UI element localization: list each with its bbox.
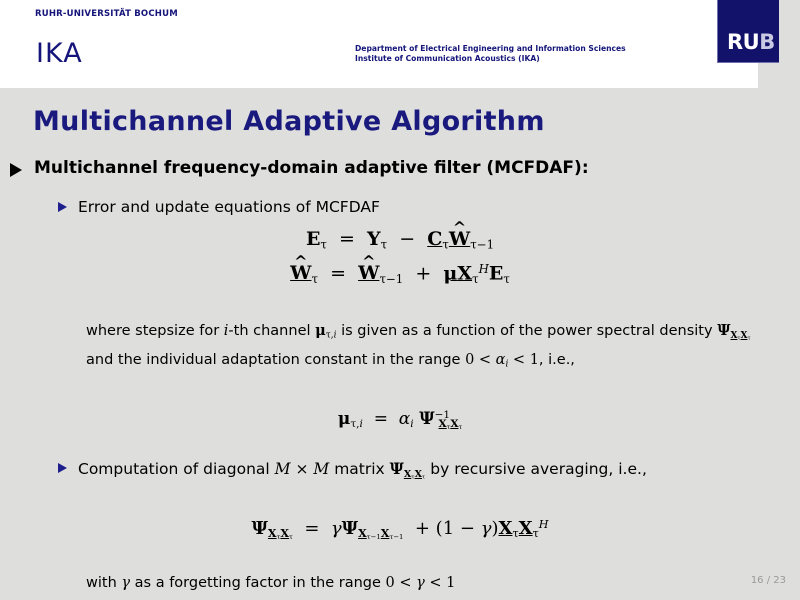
rub-logo: RUB <box>717 0 779 63</box>
where-mid2: is given as a function of the power spec… <box>341 323 713 339</box>
department-block: Department of Electrical Engineering and… <box>355 44 626 64</box>
slide-root: RUHR-UNIVERSITÄT BOCHUM IKA Department o… <box>0 0 800 600</box>
equation-update: ^Wτ = ^Wτ−1 + μXτHEτ <box>0 262 800 286</box>
comp-mid: matrix <box>334 460 385 478</box>
where-suffix: , i.e., <box>539 352 575 368</box>
bullet-level2-second-label: Computation of diagonal M × M matrix ΨXτ… <box>78 458 647 487</box>
department-line-2: Institute of Communication Acoustics (IK… <box>355 54 626 64</box>
paragraph-where: where stepsize for i-th channel μτ,i is … <box>86 320 766 376</box>
comp-prefix: Computation of diagonal <box>78 460 270 478</box>
bullet-level2-second: Computation of diagonal M × M matrix ΨXτ… <box>58 458 758 487</box>
comp-suffix: by recursive averaging, i.e., <box>430 460 647 478</box>
equation-psd-recursion: ΨXτXτ = γΨXτ−1Xτ−1 + (1 − γ)XτXτH <box>0 518 800 541</box>
where-mid3: and the individual adaptation constant i… <box>86 352 460 368</box>
with-suffix: as a forgetting factor in the range <box>135 575 381 591</box>
department-line-1: Department of Electrical Engineering and… <box>355 44 626 54</box>
equation-error: Eτ = Yτ − Cτ^Wτ−1 <box>0 228 800 251</box>
institute-logo-text: IKA <box>36 38 83 69</box>
where-prefix: where stepsize for <box>86 323 219 339</box>
page-title: Multichannel Adaptive Algorithm <box>33 106 545 137</box>
header-band: RUHR-UNIVERSITÄT BOCHUM IKA Department o… <box>0 0 758 88</box>
page-number: 16 / 23 <box>751 575 786 586</box>
rub-logo-text: RUB <box>727 30 775 54</box>
bullet-level2-first: Error and update equations of MCFDAF <box>58 197 380 218</box>
bullet-level1-label: Multichannel frequency-domain adaptive f… <box>34 158 589 178</box>
university-name: RUHR-UNIVERSITÄT BOCHUM <box>35 9 178 19</box>
paragraph-with: with γ as a forgetting factor in the ran… <box>86 572 766 594</box>
where-mid1: -th channel <box>228 323 310 339</box>
triangle-bullet-blue-icon-2 <box>58 463 67 473</box>
bullet-level1: Multichannel frequency-domain adaptive f… <box>10 158 589 178</box>
triangle-bullet-blue-icon <box>58 202 67 212</box>
triangle-bullet-icon <box>10 163 22 177</box>
bullet-level2-first-label: Error and update equations of MCFDAF <box>78 197 380 218</box>
equation-stepsize: μτ,i = αi Ψ−1XτXτ <box>0 409 800 431</box>
with-prefix: with <box>86 575 117 591</box>
